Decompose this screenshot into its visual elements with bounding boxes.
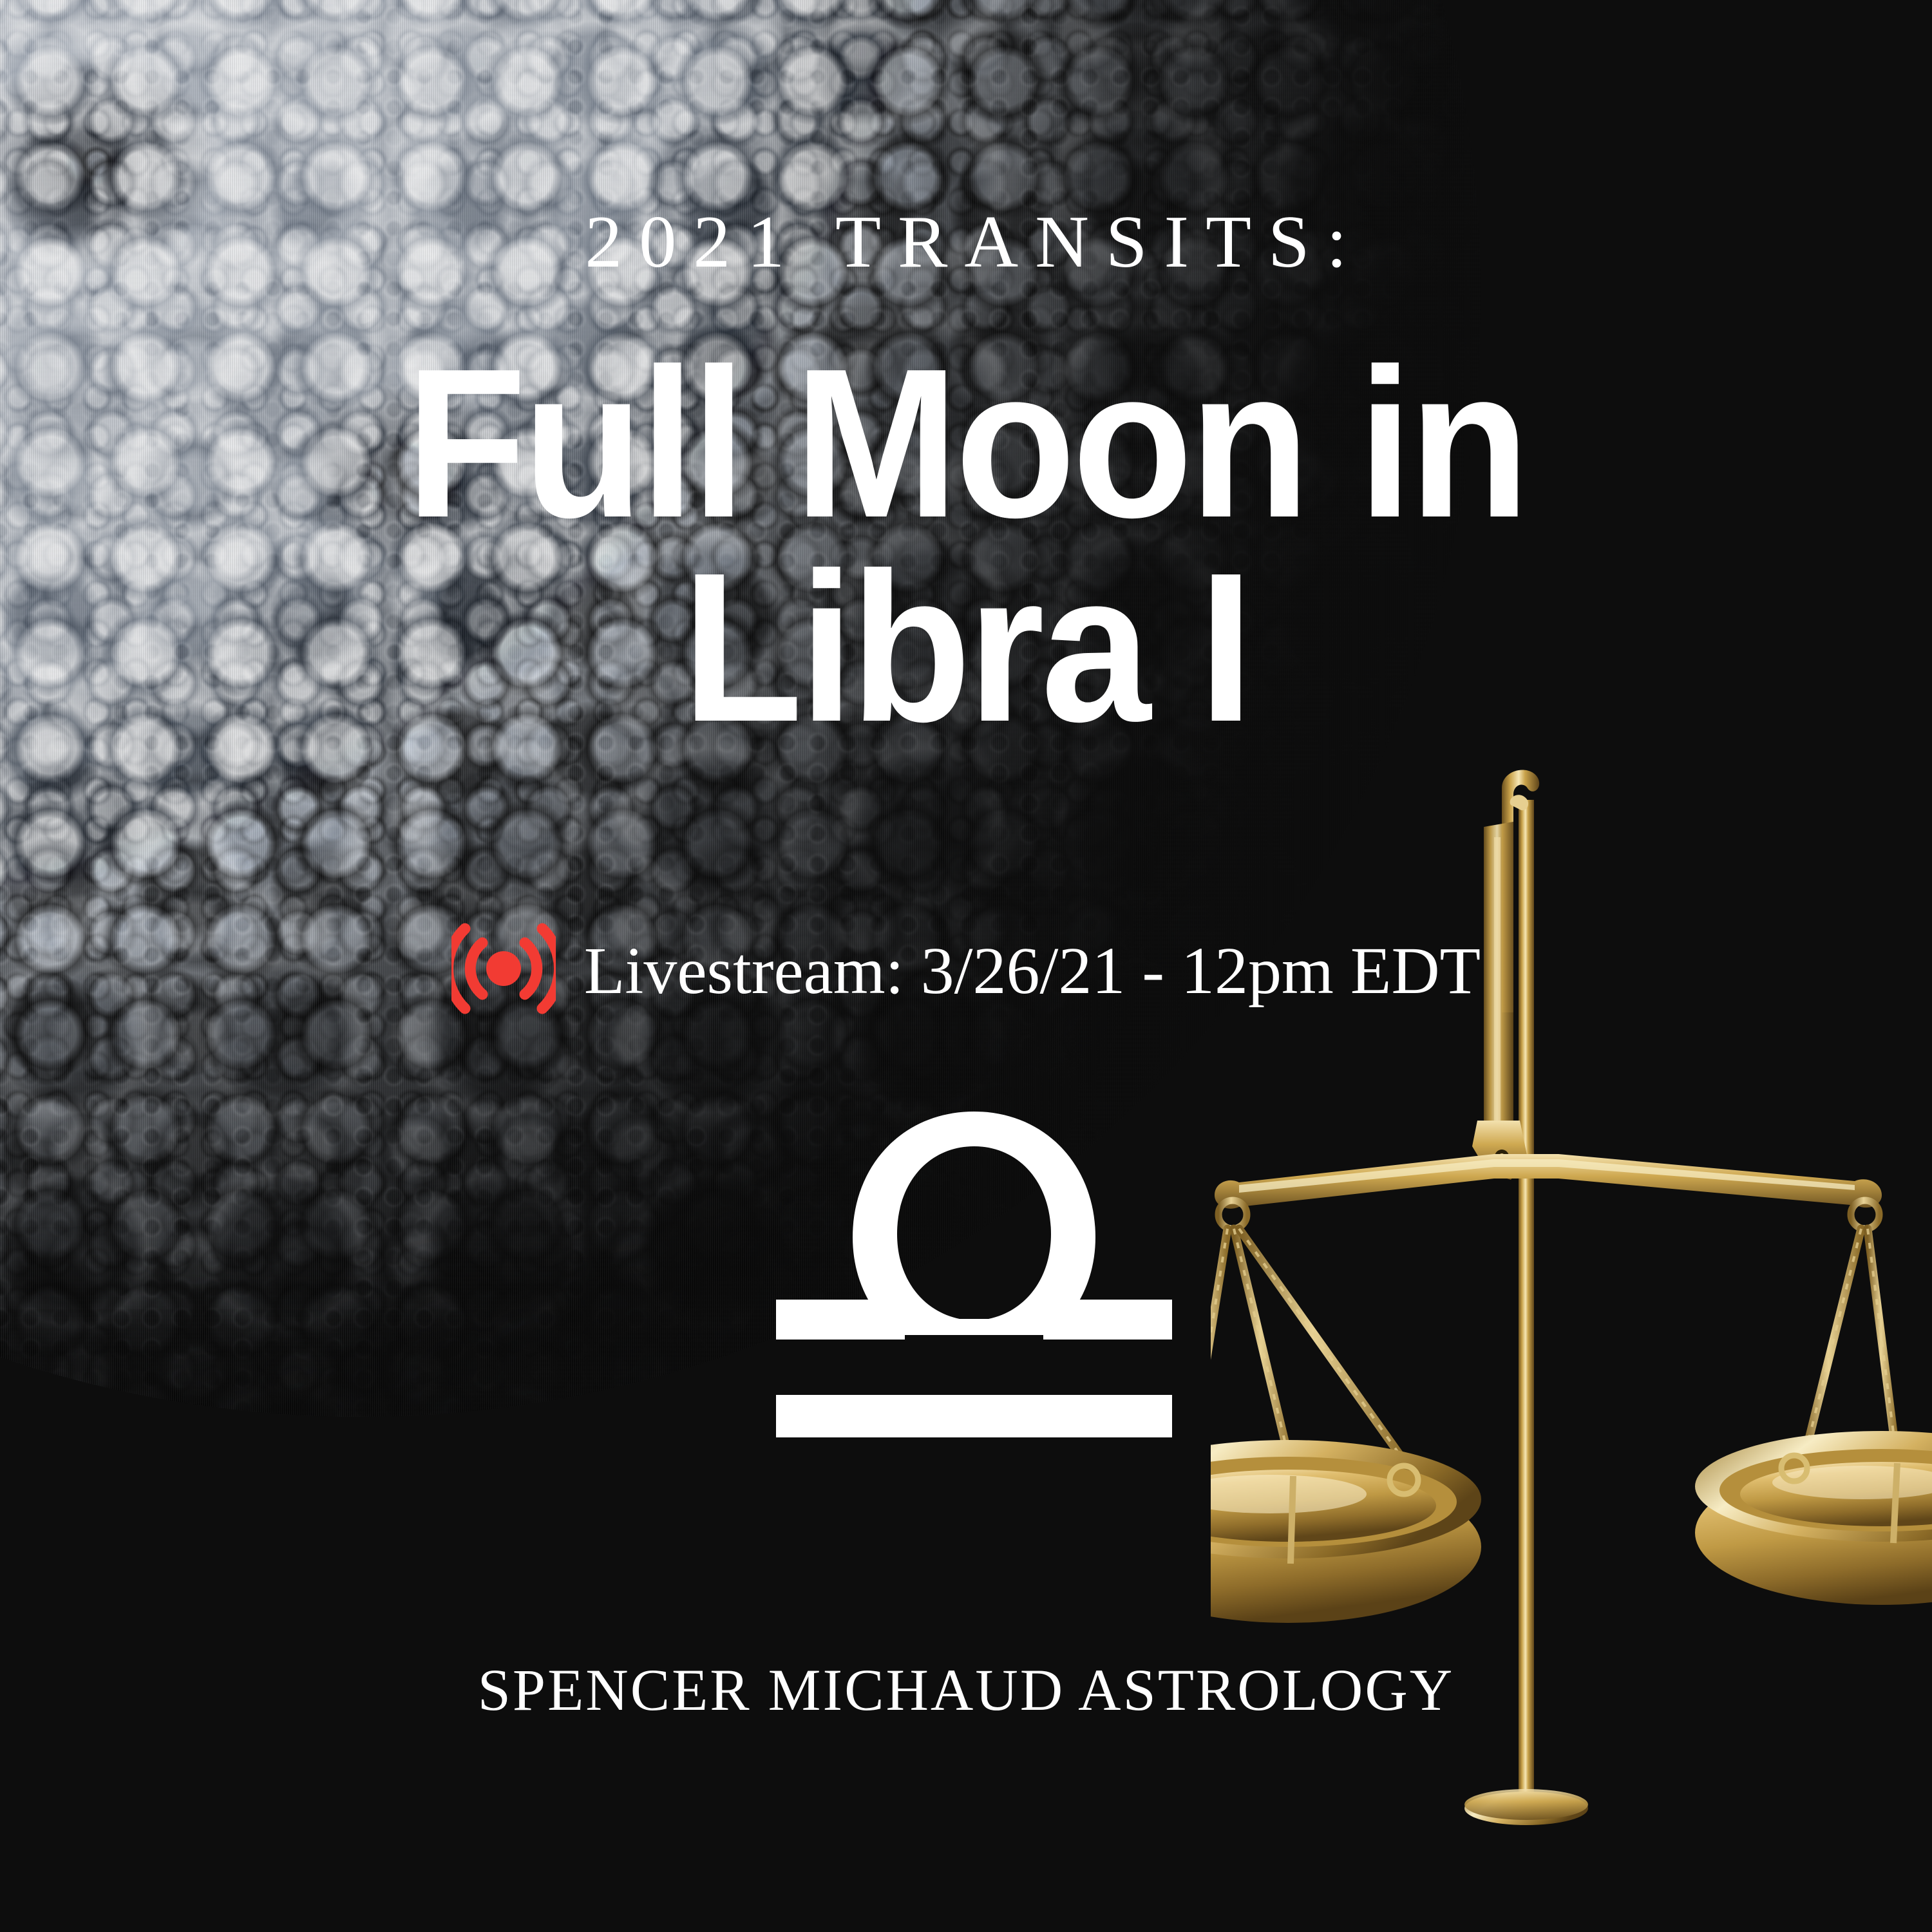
eyebrow-title: 2021 TRANSITS: bbox=[0, 205, 1932, 279]
headline-line-1: Full Moon in bbox=[68, 341, 1864, 545]
headline-line-2: Libra I bbox=[68, 545, 1864, 750]
page-title: Full Moon in Libra I bbox=[68, 341, 1864, 750]
libra-zodiac-glyph bbox=[763, 1106, 1185, 1448]
brand-credit: SPENCER MICHAUD ASTROLOGY bbox=[0, 1660, 1932, 1719]
livestream-details: Livestream: 3/26/21 - 12pm EDT bbox=[584, 938, 1481, 1005]
live-broadcast-icon bbox=[451, 922, 556, 1020]
poster-canvas: 2021 TRANSITS: Full Moon in Libra I Live… bbox=[0, 0, 1932, 1932]
livestream-row: Livestream: 3/26/21 - 12pm EDT bbox=[0, 922, 1932, 1020]
